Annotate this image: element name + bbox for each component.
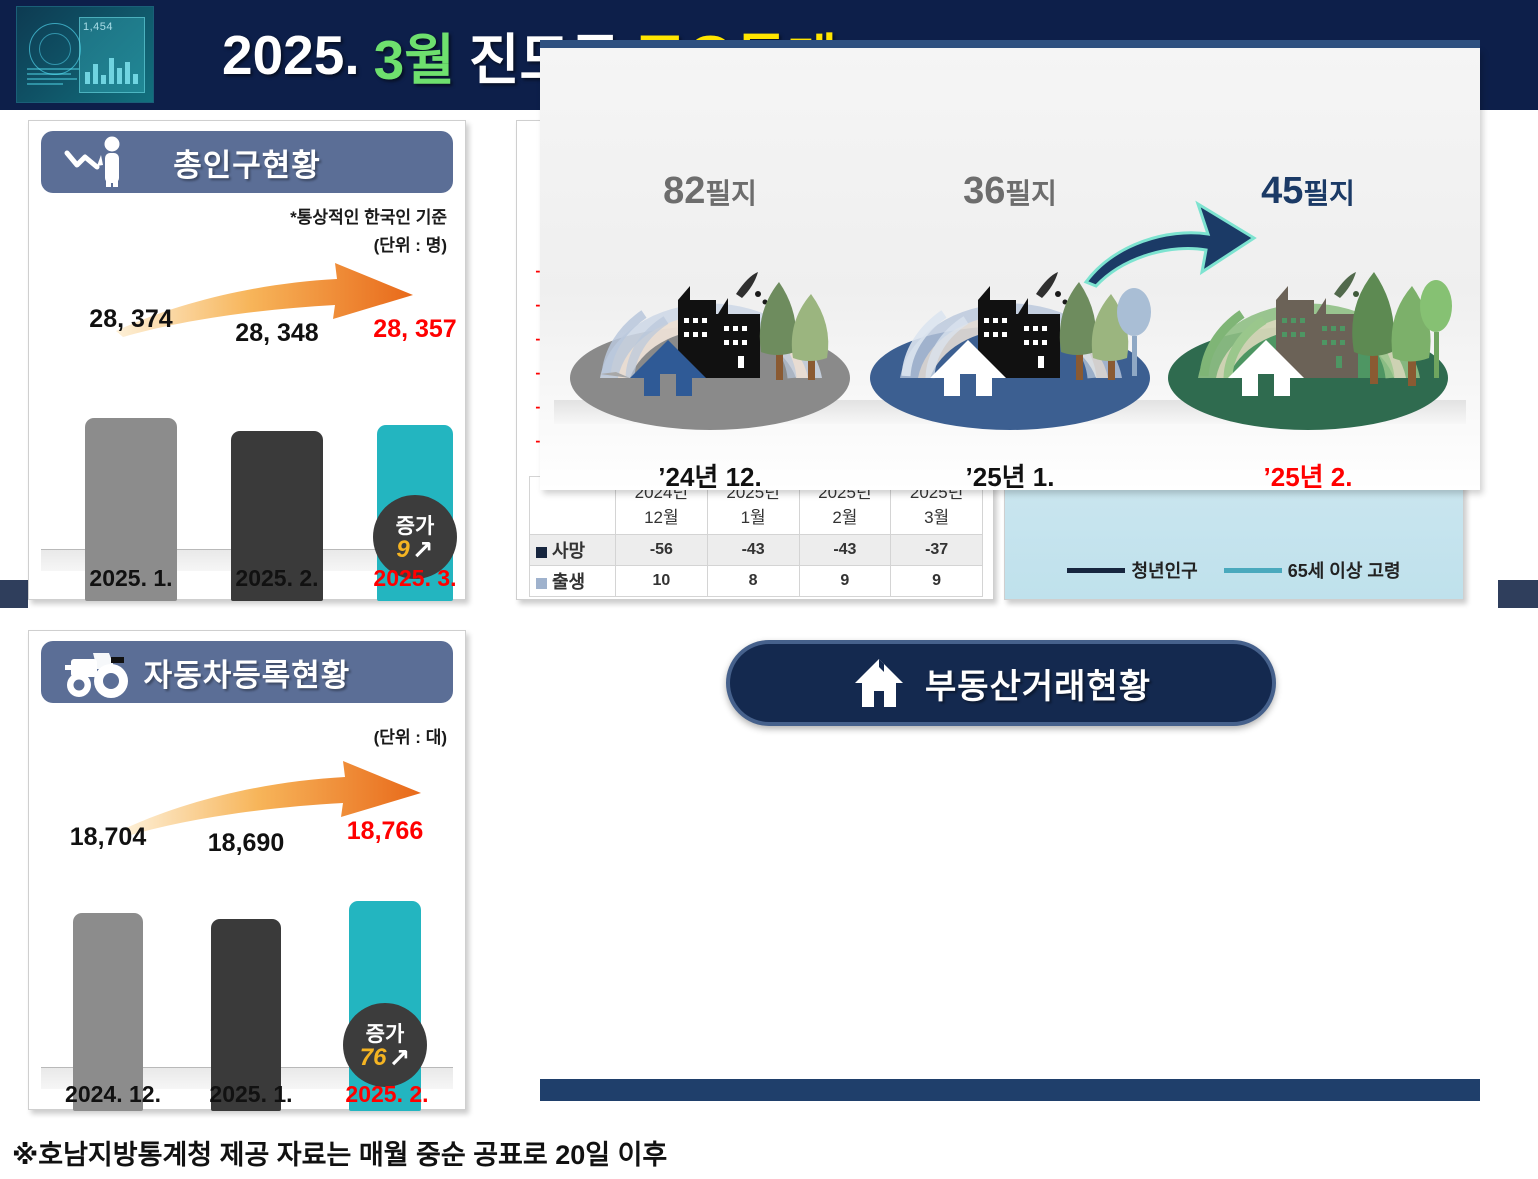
vehicle-bar-value-1: 18,704 (70, 823, 146, 852)
estate-value-1-unit: 필지 (705, 178, 757, 209)
legend-label-elderly: 65세 이상 고령 (1288, 557, 1401, 583)
death-value-4: -37 (891, 535, 983, 566)
death-legend-swatch (536, 547, 547, 558)
estate-value-2-number: 36 (963, 170, 1005, 212)
header-thumbnail-image: 1,454 (16, 6, 154, 103)
vehicle-bar-xlabel-3: 2025. 2. (345, 1081, 428, 1108)
birth-legend-swatch (536, 578, 547, 589)
estate-value-2-unit: 필지 (1005, 178, 1057, 209)
estate-value-1: 82필지 (663, 170, 757, 213)
estate-xlabel-3: ’25년 2. (1264, 457, 1353, 494)
vehicle-bar-chart: 18,704 2024. 12. 18,690 2025. 1. 18,766 … (29, 819, 465, 1111)
table-row-birth: 출생 10 8 9 9 (530, 566, 983, 597)
bar-value-2: 28, 348 (235, 319, 318, 348)
vehicle-bar-xlabel-1: 2024. 12. (65, 1081, 161, 1108)
birth-value-3: 9 (799, 566, 891, 597)
vehicle-badge-label: 증가 (366, 1024, 405, 1045)
panel-vehicle-registration: 자동차등록현황 (단위 : 대) 18,704 2024. 12. 18,690 (28, 630, 466, 1110)
vehicle-bar-xlabel-2: 2025. 1. (209, 1081, 292, 1108)
population-note: *통상적인 한국인 기준 (290, 203, 447, 228)
birth-value-4: 9 (891, 566, 983, 597)
panel-total-population: 총인구현황 *통상적인 한국인 기준 (단위 : 명) 28, 374 2025… (28, 120, 466, 600)
col3-line2: 2월 (832, 508, 857, 527)
thumbnail-radar-inner-icon (39, 33, 71, 65)
panel-real-estate: 82필지 ’24년 12. (540, 48, 1480, 490)
col4-line2: 3월 (924, 508, 949, 527)
col1-line2: 12월 (644, 508, 679, 527)
title-part-month: 3월 (374, 15, 455, 95)
bar-column-1: 28, 374 (85, 353, 177, 601)
bar-column-2: 28, 348 (231, 353, 323, 601)
birth-value-1: 10 (616, 566, 708, 597)
bar-xlabel-3: 2025. 3. (373, 565, 456, 592)
estate-value-1-number: 82 (663, 170, 705, 212)
estate-bottom-band (540, 1079, 1480, 1101)
death-label-text: 사망 (552, 541, 585, 561)
vehicle-bar-value-2: 18,690 (208, 829, 284, 858)
death-value-1: -56 (616, 535, 708, 566)
estate-illustration-3 (1158, 228, 1458, 438)
birth-label-text: 출생 (552, 572, 585, 592)
panel-real-estate-title: 부동산거래현황 (925, 659, 1151, 708)
vehicle-bar-column-1: 18,704 (73, 863, 143, 1111)
panel-total-population-title: 총인구현황 (173, 140, 321, 185)
legend-item-youth: 청년인구 (1067, 557, 1197, 583)
badge-up-arrow-icon: ↗ (412, 537, 434, 563)
person-down-trend-icon (57, 135, 137, 189)
page-footnote: ※호남지방통계청 제공 자료는 매월 중순 공표로 20일 이후 (12, 1133, 667, 1172)
badge-label: 증가 (396, 516, 435, 537)
legend-label-youth: 청년인구 (1131, 557, 1197, 583)
legend-line-youth (1067, 568, 1125, 573)
house-icon (851, 655, 907, 711)
vital-data-table: 2024년 12월 2025년 1월 2025년 2월 2025년 3월 (529, 476, 983, 597)
bar-value-1: 28, 374 (89, 305, 172, 334)
estate-xlabel-1: ’24년 12. (658, 457, 761, 494)
vehicle-bar-column-2: 18,690 (211, 863, 281, 1111)
vehicle-increase-badge: 증가 76 ↗ (343, 1003, 427, 1087)
estate-value-3-unit: 필지 (1303, 178, 1355, 209)
birth-value-2: 8 (707, 566, 799, 597)
row-label-death: 사망 (530, 535, 616, 566)
row-label-birth: 출생 (530, 566, 616, 597)
badge-value: 9 (396, 538, 409, 562)
estate-scene-1: 82필지 ’24년 12. (560, 228, 860, 438)
death-value-2: -43 (707, 535, 799, 566)
age-chart-legend: 청년인구 65세 이상 고령 (1005, 557, 1463, 583)
estate-illustration-1 (560, 228, 860, 438)
bar-column-3: 28, 357 증가 9 ↗ (377, 353, 453, 601)
thumbnail-text-lines (27, 68, 85, 88)
vehicle-bar-value-3: 18,766 (347, 817, 423, 846)
vehicle-unit: (단위 : 대) (374, 723, 447, 748)
vehicle-badge-up-arrow-icon: ↗ (388, 1045, 410, 1071)
population-bar-chart: 28, 374 2025. 1. 28, 348 2025. 2. 28, 35… (29, 301, 465, 601)
thumbnail-bar-chart-icon (85, 54, 141, 84)
panel-real-estate-header: 부동산거래현황 (726, 640, 1276, 726)
vehicle-badge-value: 76 (360, 1046, 387, 1070)
estate-xlabel-2: ’25년 1. (966, 457, 1055, 494)
panel-total-population-header: 총인구현황 (41, 131, 453, 193)
legend-line-elderly (1224, 568, 1282, 573)
death-value-3: -43 (799, 535, 891, 566)
col2-line2: 1월 (741, 508, 766, 527)
population-unit: (단위 : 명) (374, 231, 447, 256)
table-row-death: 사망 -56 -43 -43 -37 (530, 535, 983, 566)
estate-scene-3: 45필지 ’25년 2. (1158, 228, 1458, 438)
panel-vehicle-title: 자동차등록현황 (144, 650, 351, 695)
vehicle-bar-column-3: 18,766 증가 76 ↗ (349, 863, 421, 1111)
bar-xlabel-1: 2025. 1. (89, 565, 172, 592)
bar-xlabel-2: 2025. 2. (235, 565, 318, 592)
estate-value-2: 36필지 (963, 170, 1057, 213)
estate-value-3-number: 45 (1261, 170, 1303, 212)
thumbnail-number: 1,454 (83, 21, 113, 33)
bar-value-3: 28, 357 (373, 315, 456, 344)
estate-value-3: 45필지 (1261, 170, 1355, 213)
title-part-year: 2025. (222, 23, 360, 87)
tractor-icon (57, 645, 143, 701)
panel-vehicle-header: 자동차등록현황 (41, 641, 453, 703)
legend-item-elderly: 65세 이상 고령 (1224, 557, 1401, 583)
